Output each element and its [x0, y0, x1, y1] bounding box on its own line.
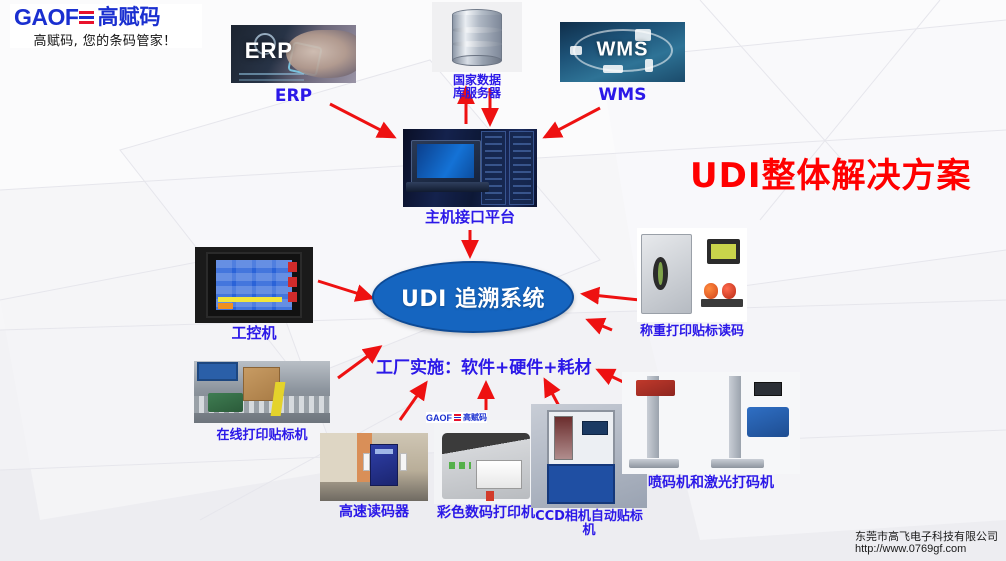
node-erp[interactable]: ERP ERP [231, 25, 356, 106]
node-industrial-pc[interactable]: 工控机 [195, 247, 313, 342]
color-printer-caption: 彩色数码打印机 [434, 506, 538, 521]
factory-implementation-label: 工厂实施：软件+硬件+耗材 [376, 353, 592, 378]
mini-logo-text-cn: 高赋码 [463, 412, 487, 423]
online-labeler-caption: 在线打印贴标机 [194, 429, 330, 443]
weighing-labeler-caption: 称重打印贴标读码 [637, 325, 747, 339]
high-speed-reader-caption: 高速读码器 [320, 505, 428, 520]
mini-logo-text-en: GAOF [426, 413, 452, 423]
online-labeler-image [194, 361, 330, 423]
weighing-labeler-image [637, 228, 747, 322]
node-database[interactable]: 国家数据 库服务器 [432, 2, 522, 99]
logo-primary-row: GAOF 高赋码 [14, 5, 202, 29]
logo-text-en: GAOF [14, 5, 78, 29]
brand-logo: GAOF 高赋码 高赋码, 您的条码管家！ [10, 4, 202, 48]
node-inkjet-laser[interactable]: 喷码机和激光打码机 [622, 372, 800, 491]
wms-image-text: WMS [597, 38, 649, 61]
node-high-speed-reader[interactable]: 高速读码器 [320, 433, 428, 520]
industrial-pc-image [195, 247, 313, 323]
wms-caption: WMS [560, 87, 685, 105]
udi-trace-system-node[interactable]: UDI 追溯系统 [372, 261, 574, 333]
slide-canvas: GAOF 高赋码 高赋码, 您的条码管家！ UDI整体解决方案 ERP ERP [0, 0, 1006, 561]
inkjet-laser-caption: 喷码机和激光打码机 [622, 476, 800, 491]
host-platform-caption: 主机接口平台 [403, 210, 537, 226]
inkjet-laser-image [622, 372, 800, 474]
color-printer-image [434, 420, 538, 504]
erp-image: ERP [231, 25, 356, 83]
wms-image: WMS [560, 22, 685, 82]
mini-brand-logo: GAOF 高赋码 [426, 412, 487, 423]
erp-image-text: ERP [245, 38, 293, 64]
erp-caption: ERP [231, 88, 356, 106]
page-title: UDI整体解决方案 [690, 148, 971, 197]
footer-url[interactable]: http://www.0769gf.com [855, 543, 998, 557]
footer: 东莞市高飞电子科技有限公司 http://www.0769gf.com [855, 530, 998, 558]
logo-tagline: 高赋码, 您的条码管家！ [14, 30, 196, 49]
node-host-platform[interactable]: 主机接口平台 [403, 129, 537, 226]
database-caption: 国家数据 库服务器 [432, 74, 522, 99]
logo-bars-icon [79, 11, 94, 24]
mini-logo-bars-icon [454, 414, 461, 421]
udi-trace-system-label: UDI 追溯系统 [401, 281, 545, 313]
node-weighing-labeler[interactable]: 称重打印贴标读码 [637, 228, 747, 339]
node-wms[interactable]: WMS WMS [560, 22, 685, 105]
node-online-labeler[interactable]: 在线打印贴标机 [194, 361, 330, 443]
logo-text-cn: 高赋码 [97, 5, 160, 29]
footer-company: 东莞市高飞电子科技有限公司 [855, 530, 998, 544]
database-icon [432, 2, 522, 72]
ccd-labeler-caption: CCD相机自动贴标机 [531, 510, 647, 537]
host-platform-image [403, 129, 537, 207]
industrial-pc-caption: 工控机 [195, 326, 313, 342]
high-speed-reader-image [320, 433, 428, 501]
node-color-printer[interactable]: 彩色数码打印机 [434, 420, 538, 521]
